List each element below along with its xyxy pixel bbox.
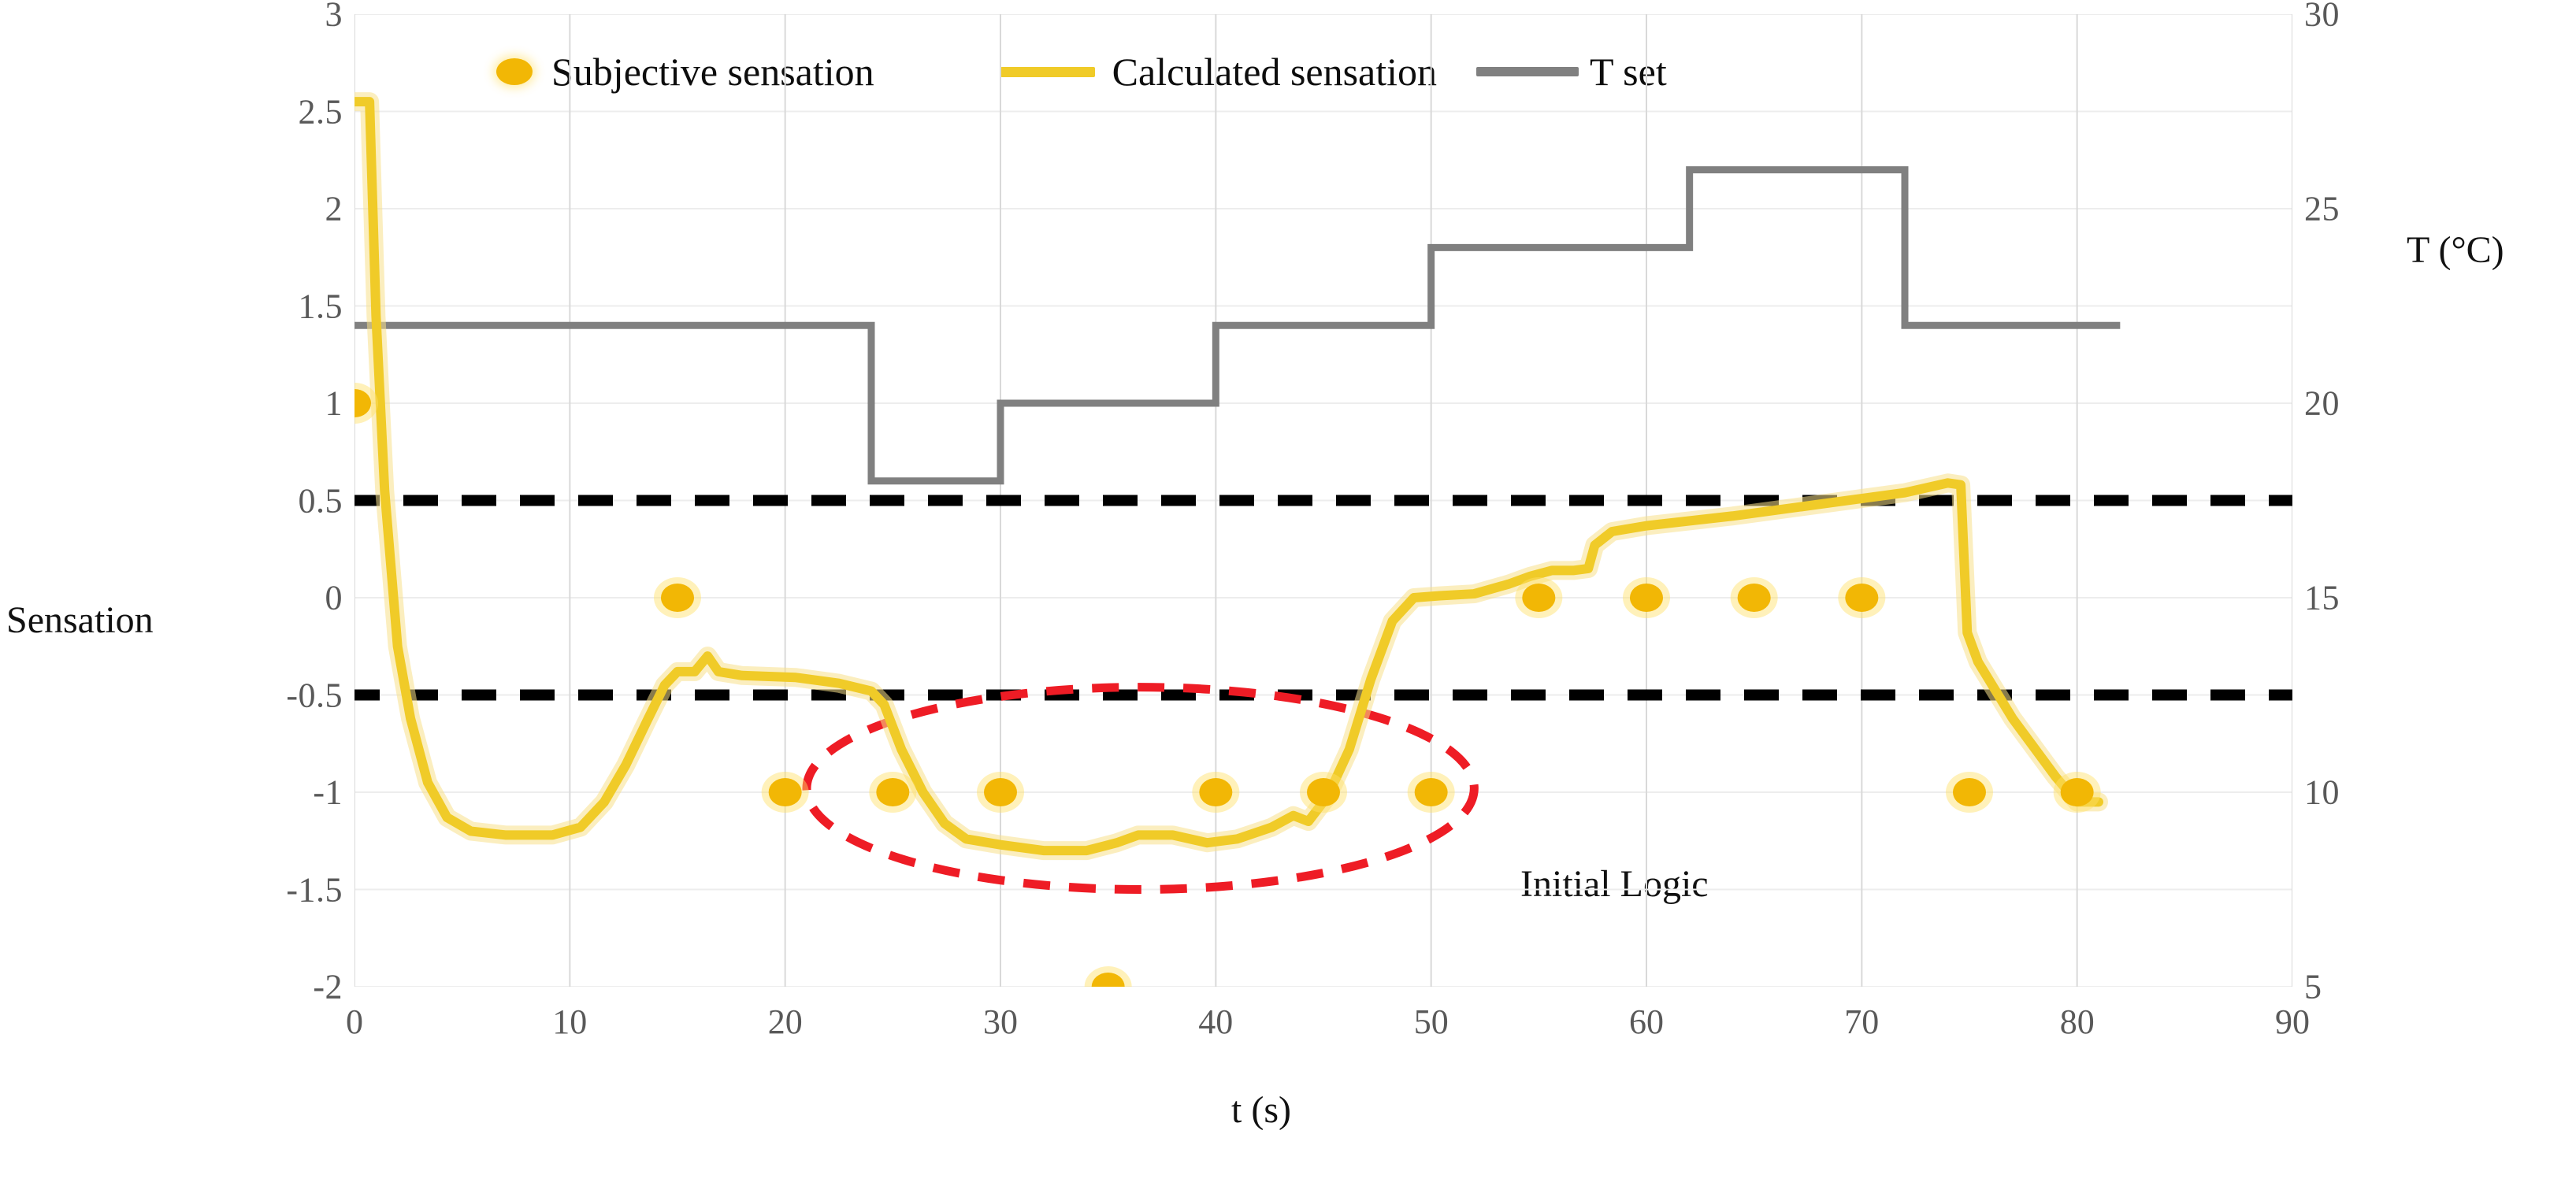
- x-tick: 30: [983, 1002, 1018, 1042]
- y-left-tick: 0: [325, 578, 343, 618]
- y-left-tick: 2.5: [299, 91, 343, 132]
- data-point: [1415, 778, 1448, 806]
- y-axis-right-title: T (°C): [2407, 228, 2504, 272]
- x-tick: 60: [1629, 1002, 1664, 1042]
- x-tick: 90: [2275, 1002, 2310, 1042]
- data-point: [1953, 778, 1986, 806]
- series-subjective-sensation: [354, 383, 2101, 987]
- x-tick: 0: [346, 1002, 363, 1042]
- data-point: [1630, 584, 1663, 612]
- y-left-tick: -2: [313, 967, 343, 1007]
- data-point: [1738, 584, 1771, 612]
- data-point: [876, 778, 909, 806]
- x-tick: 70: [1844, 1002, 1879, 1042]
- y-left-tick: 0.5: [299, 480, 343, 521]
- chart-root: 3 2.5 2 1.5 1 0.5 0 -0.5 -1 -1.5 -2 30 2…: [0, 0, 2576, 1197]
- y-axis-left-title: Sensation: [6, 598, 154, 642]
- y-axis-right-ticks: 30 25 20 15 10 5: [2304, 14, 2399, 987]
- plot-svg: [354, 14, 2292, 987]
- y-right-tick: 5: [2304, 967, 2322, 1007]
- y-right-tick: 15: [2304, 578, 2340, 618]
- plot-area: [354, 14, 2292, 987]
- x-axis-title: t (s): [1231, 1088, 1291, 1132]
- x-tick: 50: [1414, 1002, 1449, 1042]
- data-point: [1199, 778, 1232, 806]
- x-tick: 80: [2060, 1002, 2095, 1042]
- y-right-tick: 10: [2304, 773, 2340, 813]
- series-calculated-sensation: [354, 102, 2099, 850]
- data-point: [1845, 584, 1878, 612]
- y-left-tick: 3: [325, 0, 343, 35]
- y-left-tick: 1.5: [299, 286, 343, 326]
- x-tick: 40: [1198, 1002, 1233, 1042]
- data-point: [661, 584, 694, 612]
- data-point: [1522, 584, 1555, 612]
- x-tick: 20: [768, 1002, 803, 1042]
- y-left-tick: -1.5: [286, 869, 343, 910]
- data-point: [2061, 778, 2094, 806]
- data-point: [984, 778, 1017, 806]
- data-point: [1307, 778, 1340, 806]
- x-tick: 10: [552, 1002, 587, 1042]
- y-axis-left-ticks: 3 2.5 2 1.5 1 0.5 0 -0.5 -1 -1.5 -2: [213, 14, 343, 987]
- series-t-set: [354, 170, 2120, 481]
- y-right-tick: 20: [2304, 384, 2340, 424]
- y-right-tick: 30: [2304, 0, 2340, 35]
- y-right-tick: 25: [2304, 189, 2340, 229]
- x-axis-ticks: 0 10 20 30 40 50 60 70 80 90: [354, 1002, 2292, 1049]
- y-left-tick: 1: [325, 384, 343, 424]
- data-point: [769, 778, 802, 806]
- y-left-tick: -1: [313, 773, 343, 813]
- y-left-tick: -0.5: [286, 675, 343, 715]
- y-left-tick: 2: [325, 189, 343, 229]
